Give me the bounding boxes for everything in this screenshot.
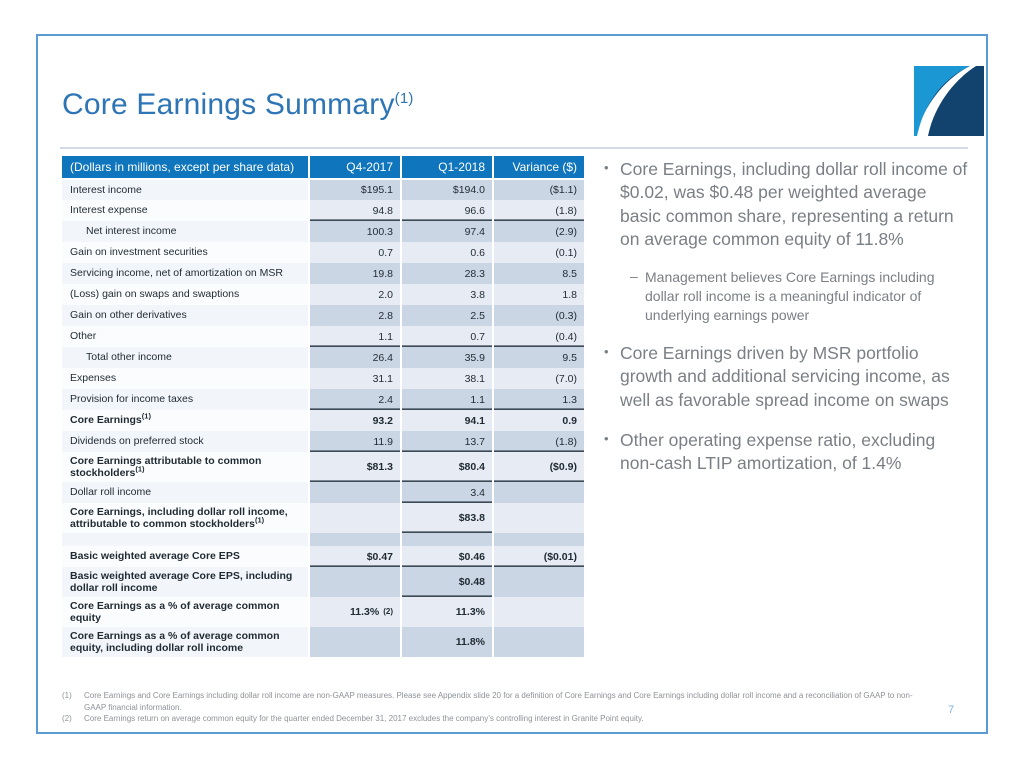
bullet-sub-item: – Management believes Core Earnings incl… bbox=[630, 268, 972, 325]
row-var: (0.4) bbox=[493, 326, 585, 347]
title-divider bbox=[60, 147, 968, 149]
row-var: 1.8 bbox=[493, 284, 585, 305]
row-q4: 26.4 bbox=[309, 347, 401, 368]
dash-marker-icon: – bbox=[630, 268, 645, 325]
table-row: Core Earnings as a % of average common e… bbox=[61, 627, 585, 657]
row-label: Core Earnings attributable to common sto… bbox=[61, 452, 309, 482]
row-q1: 0.6 bbox=[401, 242, 493, 263]
company-logo bbox=[914, 66, 984, 136]
row-q1: 3.8 bbox=[401, 284, 493, 305]
row-q1: $83.8 bbox=[401, 503, 493, 533]
row-q4 bbox=[309, 627, 401, 657]
row-var: (1.8) bbox=[493, 200, 585, 221]
row-q1: 0.7 bbox=[401, 326, 493, 347]
row-label-footnote: (1) bbox=[135, 465, 144, 474]
row-q4: 2.0 bbox=[309, 284, 401, 305]
page-title: Core Earnings Summary(1) bbox=[62, 88, 414, 122]
row-q4: 1.1 bbox=[309, 326, 401, 347]
row-label: Basic weighted average Core EPS bbox=[61, 546, 309, 567]
bullet-text: Core Earnings driven by MSR portfolio gr… bbox=[620, 342, 972, 412]
table-row: Dividends on preferred stock 11.9 13.7 (… bbox=[61, 431, 585, 452]
table-row: Basic weighted average Core EPS $0.47 $0… bbox=[61, 546, 585, 567]
bullet-item: • Other operating expense ratio, excludi… bbox=[604, 429, 972, 476]
footnotes: (1) Core Earnings and Core Earnings incl… bbox=[62, 690, 922, 725]
row-q1: $194.0 bbox=[401, 179, 493, 200]
table-row: Gain on investment securities 0.7 0.6 (0… bbox=[61, 242, 585, 263]
row-q1: 28.3 bbox=[401, 263, 493, 284]
row-label: Provision for income taxes bbox=[61, 389, 309, 410]
row-label bbox=[61, 533, 309, 546]
company-logo-icon bbox=[914, 66, 984, 136]
row-label: Core Earnings, including dollar roll inc… bbox=[61, 503, 309, 533]
row-q4-footnote: (2) bbox=[383, 607, 393, 616]
bullet-item: • Core Earnings, including dollar roll i… bbox=[604, 158, 972, 251]
row-q1 bbox=[401, 533, 493, 546]
bullet-text: Other operating expense ratio, excluding… bbox=[620, 429, 972, 476]
row-q4: 93.2 bbox=[309, 410, 401, 431]
row-q4: 11.3%(2) bbox=[309, 597, 401, 627]
core-earnings-table: (Dollars in millions, except per share d… bbox=[60, 156, 586, 657]
table-row: Expenses 31.1 38.1 (7.0) bbox=[61, 368, 585, 389]
row-var bbox=[493, 567, 585, 597]
row-q1: 3.4 bbox=[401, 482, 493, 503]
row-var bbox=[493, 503, 585, 533]
row-q1: $0.48 bbox=[401, 567, 493, 597]
row-q1: 13.7 bbox=[401, 431, 493, 452]
row-label: Gain on investment securities bbox=[61, 242, 309, 263]
table-header-q1-2018: Q1-2018 bbox=[401, 156, 493, 179]
row-label: Servicing income, net of amortization on… bbox=[61, 263, 309, 284]
table-row: Basic weighted average Core EPS, includi… bbox=[61, 567, 585, 597]
row-q4: 2.8 bbox=[309, 305, 401, 326]
row-q4 bbox=[309, 503, 401, 533]
row-q4: 31.1 bbox=[309, 368, 401, 389]
row-q4: 2.4 bbox=[309, 389, 401, 410]
footnote-item: (1) Core Earnings and Core Earnings incl… bbox=[62, 690, 922, 713]
table-row: Core Earnings(1) 93.2 94.1 0.9 bbox=[61, 410, 585, 431]
row-label: Core Earnings as a % of average common e… bbox=[61, 597, 309, 627]
row-q1: 11.3% bbox=[401, 597, 493, 627]
row-label: Interest expense bbox=[61, 200, 309, 221]
table-row: Gain on other derivatives 2.8 2.5 (0.3) bbox=[61, 305, 585, 326]
table-row-spacer bbox=[61, 533, 585, 546]
row-label-text: Core Earnings bbox=[70, 414, 142, 426]
row-label: Expenses bbox=[61, 368, 309, 389]
row-q1: 96.6 bbox=[401, 200, 493, 221]
row-q1: 2.5 bbox=[401, 305, 493, 326]
row-q1: 38.1 bbox=[401, 368, 493, 389]
row-var: 8.5 bbox=[493, 263, 585, 284]
row-var: ($1.1) bbox=[493, 179, 585, 200]
table-header-row: (Dollars in millions, except per share d… bbox=[61, 156, 585, 179]
row-label: Core Earnings as a % of average common e… bbox=[61, 627, 309, 657]
row-q1: $0.46 bbox=[401, 546, 493, 567]
bullet-marker-icon: • bbox=[604, 342, 620, 412]
row-var bbox=[493, 482, 585, 503]
row-var: 9.5 bbox=[493, 347, 585, 368]
row-label: Gain on other derivatives bbox=[61, 305, 309, 326]
table-row: Other 1.1 0.7 (0.4) bbox=[61, 326, 585, 347]
row-label: (Loss) gain on swaps and swaptions bbox=[61, 284, 309, 305]
row-label: Interest income bbox=[61, 179, 309, 200]
row-label-text: Core Earnings attributable to common sto… bbox=[70, 455, 261, 479]
row-label: Other bbox=[61, 326, 309, 347]
row-var: 1.3 bbox=[493, 389, 585, 410]
row-q4: $81.3 bbox=[309, 452, 401, 482]
row-q4: $0.47 bbox=[309, 546, 401, 567]
table-header-q4-2017: Q4-2017 bbox=[309, 156, 401, 179]
row-label: Dividends on preferred stock bbox=[61, 431, 309, 452]
row-var: (0.3) bbox=[493, 305, 585, 326]
bullet-item: • Core Earnings driven by MSR portfolio … bbox=[604, 342, 972, 412]
table-row: Dollar roll income 3.4 bbox=[61, 482, 585, 503]
row-q4: 100.3 bbox=[309, 221, 401, 242]
row-q4: 0.7 bbox=[309, 242, 401, 263]
row-var: (7.0) bbox=[493, 368, 585, 389]
table-row: Servicing income, net of amortization on… bbox=[61, 263, 585, 284]
page-title-text: Core Earnings Summary bbox=[62, 88, 395, 121]
table-row: Provision for income taxes 2.4 1.1 1.3 bbox=[61, 389, 585, 410]
table-body: Interest income $195.1 $194.0 ($1.1) Int… bbox=[61, 179, 585, 657]
row-label: Core Earnings(1) bbox=[61, 410, 309, 431]
footnote-number: (2) bbox=[62, 713, 84, 725]
row-label: Net interest income bbox=[61, 221, 309, 242]
row-q1: 97.4 bbox=[401, 221, 493, 242]
slide-frame: Core Earnings Summary(1) (Dollars in mil… bbox=[36, 34, 988, 734]
table-row: Core Earnings attributable to common sto… bbox=[61, 452, 585, 482]
row-q4 bbox=[309, 567, 401, 597]
row-q4 bbox=[309, 482, 401, 503]
bullet-marker-icon: • bbox=[604, 429, 620, 476]
bullet-sub-text: Management believes Core Earnings includ… bbox=[645, 268, 972, 325]
row-q1: 94.1 bbox=[401, 410, 493, 431]
row-q1: $80.4 bbox=[401, 452, 493, 482]
row-q1: 1.1 bbox=[401, 389, 493, 410]
row-q4: 19.8 bbox=[309, 263, 401, 284]
row-var bbox=[493, 533, 585, 546]
row-q4-value: 11.3% bbox=[350, 606, 379, 618]
page-number: 7 bbox=[936, 704, 966, 716]
row-label: Total other income bbox=[61, 347, 309, 368]
row-var: ($0.01) bbox=[493, 546, 585, 567]
table-row: Total other income 26.4 35.9 9.5 bbox=[61, 347, 585, 368]
row-var: ($0.9) bbox=[493, 452, 585, 482]
row-label-footnote: (1) bbox=[255, 516, 264, 525]
bullet-text: Core Earnings, including dollar roll inc… bbox=[620, 158, 972, 251]
table-row: Core Earnings as a % of average common e… bbox=[61, 597, 585, 627]
table-row: Interest expense 94.8 96.6 (1.8) bbox=[61, 200, 585, 221]
table-row: (Loss) gain on swaps and swaptions 2.0 3… bbox=[61, 284, 585, 305]
table-row: Net interest income 100.3 97.4 (2.9) bbox=[61, 221, 585, 242]
footnote-text: Core Earnings and Core Earnings includin… bbox=[84, 690, 922, 713]
row-q4 bbox=[309, 533, 401, 546]
highlights-list: • Core Earnings, including dollar roll i… bbox=[604, 158, 972, 492]
row-var: (0.1) bbox=[493, 242, 585, 263]
row-q4: $195.1 bbox=[309, 179, 401, 200]
table-header-variance: Variance ($) bbox=[493, 156, 585, 179]
footnote-text: Core Earnings return on average common e… bbox=[84, 713, 922, 725]
row-q1: 11.8% bbox=[401, 627, 493, 657]
bullet-marker-icon: • bbox=[604, 158, 620, 251]
row-label: Dollar roll income bbox=[61, 482, 309, 503]
row-var bbox=[493, 627, 585, 657]
row-var: (2.9) bbox=[493, 221, 585, 242]
table-row: Interest income $195.1 $194.0 ($1.1) bbox=[61, 179, 585, 200]
row-var: (1.8) bbox=[493, 431, 585, 452]
row-label: Basic weighted average Core EPS, includi… bbox=[61, 567, 309, 597]
row-q4: 11.9 bbox=[309, 431, 401, 452]
row-var bbox=[493, 597, 585, 627]
row-label-footnote: (1) bbox=[142, 412, 151, 421]
row-q1: 35.9 bbox=[401, 347, 493, 368]
footnote-item: (2) Core Earnings return on average comm… bbox=[62, 713, 922, 725]
page-title-footnote: (1) bbox=[395, 90, 414, 107]
table-row: Core Earnings, including dollar roll inc… bbox=[61, 503, 585, 533]
table-header-units: (Dollars in millions, except per share d… bbox=[61, 156, 309, 179]
row-q4: 94.8 bbox=[309, 200, 401, 221]
row-var: 0.9 bbox=[493, 410, 585, 431]
footnote-number: (1) bbox=[62, 690, 84, 713]
